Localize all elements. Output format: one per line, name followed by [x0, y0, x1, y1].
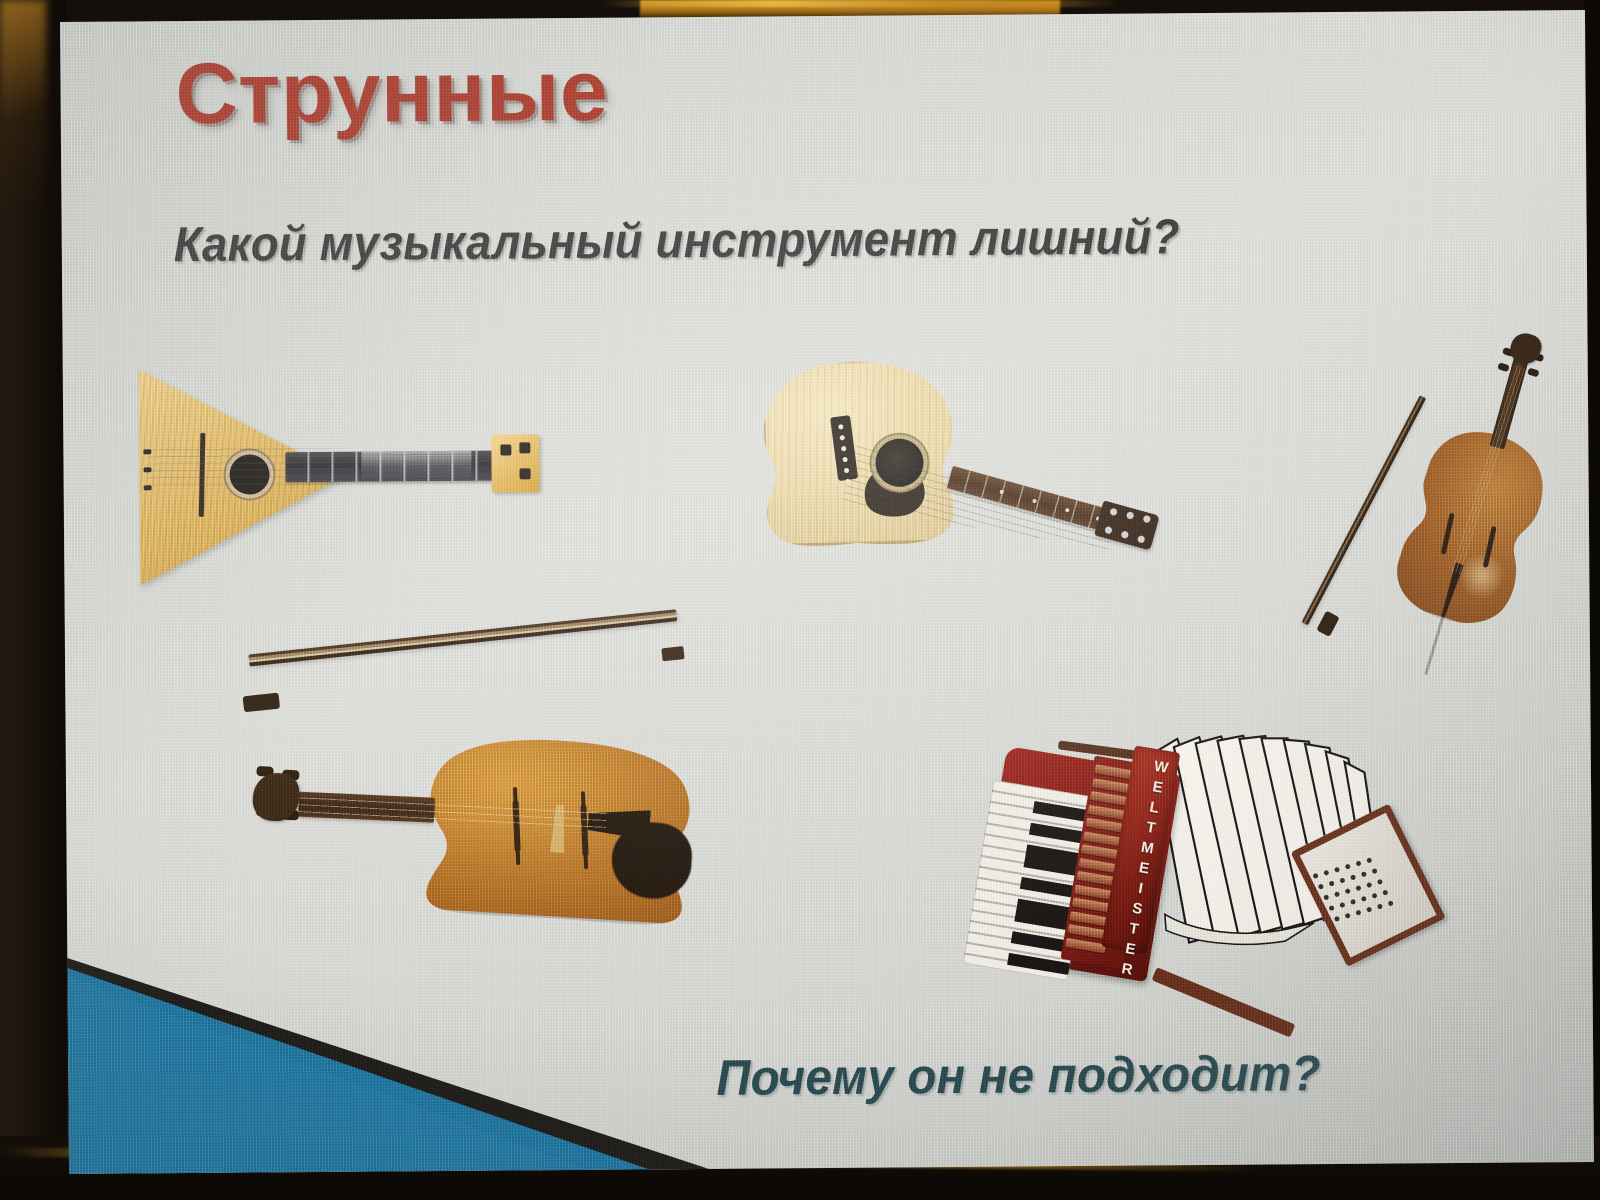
slide-bottom-question: Почему он не подходит?	[716, 1044, 1321, 1107]
instrument-balalaika	[133, 348, 555, 596]
bezel-top-highlight	[600, 0, 1120, 7]
cello-bow-frog	[1316, 611, 1339, 637]
violin-bow	[248, 609, 677, 666]
corner-decoration-svg	[67, 919, 709, 1174]
presentation-slide: Струнные Какой музыкальный инструмент ли…	[60, 10, 1594, 1174]
tuning-peg-icon	[500, 444, 511, 455]
tuning-peg-icon	[1137, 535, 1146, 544]
tuning-peg-icon	[1126, 511, 1135, 520]
instrument-cello	[1332, 315, 1594, 687]
tuning-peg-icon	[1121, 530, 1130, 539]
bezel-left-reflection	[0, 0, 46, 210]
photographed-screen: Струнные Какой музыкальный инструмент ли…	[0, 0, 1600, 1200]
accordion-bottom-strap-bar	[1152, 967, 1296, 1037]
tuning-peg-icon	[520, 468, 531, 479]
violin-bow-tip	[661, 646, 684, 661]
slide-title: Струнные	[175, 48, 608, 137]
balalaika-strings	[147, 445, 497, 492]
slide-subtitle-question: Какой музыкальный инструмент лишний?	[174, 209, 1180, 273]
instrument-violin	[235, 637, 727, 916]
tuning-peg-icon	[1143, 515, 1152, 524]
tuning-peg-icon	[1104, 526, 1113, 535]
instrument-acoustic-guitar	[751, 339, 1197, 580]
balalaika-headstock	[491, 434, 539, 492]
balalaika-bridge-nuts	[143, 449, 151, 495]
tuning-peg-icon	[519, 442, 530, 453]
cello-endpin	[1424, 615, 1445, 675]
slide-corner-decoration	[67, 919, 709, 1174]
instrument-accordion: WELTMEISTER	[981, 726, 1403, 1019]
tuning-peg-icon	[1109, 508, 1118, 517]
